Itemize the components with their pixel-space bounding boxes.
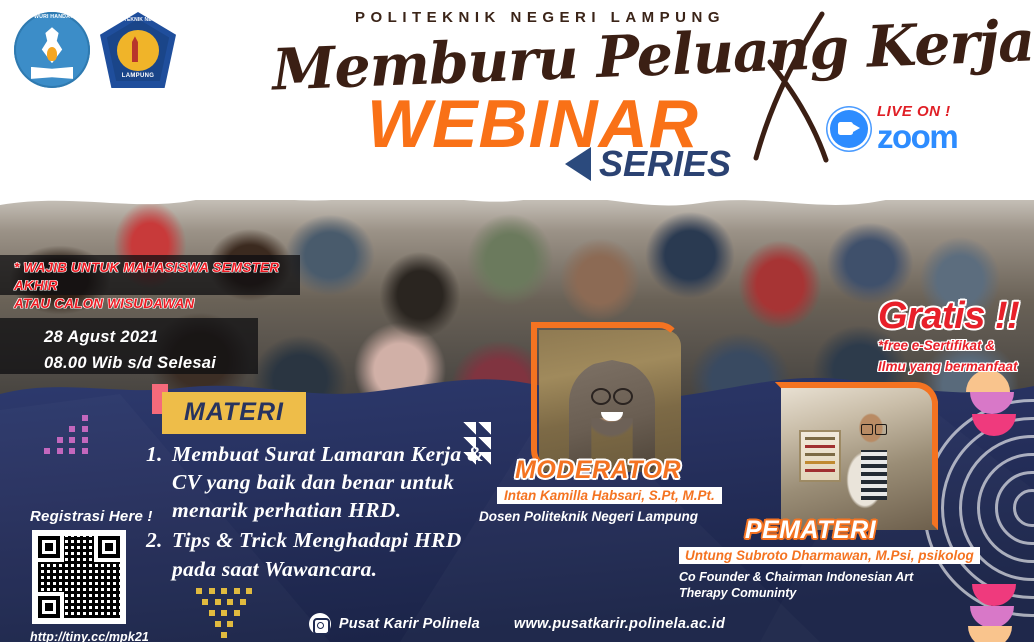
registration-label: Registrasi Here !: [22, 508, 174, 525]
notice-line-2: ATAU CALON WISUDAWAN: [14, 295, 300, 313]
speaker-affiliation: Co Founder & Chairman Indonesian Art The…: [679, 569, 929, 602]
logo1-rim-text: TUT WURI HANDAYANI: [14, 14, 90, 20]
series-label: SERIES: [599, 143, 731, 185]
speaker-name: Untung Subroto Dharmawan, M.Psi, psikolo…: [679, 547, 980, 564]
zoom-live-block: LIVE ON ! zoom: [830, 104, 957, 153]
speaker-card: PEMATERI Untung Subroto Dharmawan, M.Psi…: [775, 382, 938, 602]
materi-item-2-text: Tips & Trick Menghadapi HRD pada saat Wa…: [172, 526, 496, 582]
footer-bar: Pusat Karir Polinela www.pusatkarir.poli…: [0, 606, 1034, 642]
zoom-brand-label: zoom: [877, 120, 957, 153]
moderator-name: Intan Kamilla Habsari, S.Pt, M.Pt.: [497, 487, 722, 504]
logo-group: TUT WURI HANDAYANI POLITEKNIK NEGERI LAM…: [14, 12, 176, 88]
halfcircle-pink-top: [972, 414, 1016, 436]
moderator-card: MODERATOR Intan Kamilla Habsari, S.Pt, M…: [531, 322, 681, 524]
instagram-icon: [309, 613, 331, 635]
webinar-poster: * WAJIB UNTUK MAHASISWA SEMSTER AKHIR AT…: [0, 0, 1034, 642]
materi-item-2: 2. Tips & Trick Menghadapi HRD pada saat…: [146, 526, 496, 582]
polinela-logo: POLITEKNIK NEGERI LAMPUNG: [100, 12, 176, 88]
event-time: 08.00 Wib s/d Selesai: [44, 351, 258, 377]
speaker-role: PEMATERI: [683, 516, 938, 545]
materi-item-1: 1. Membuat Surat Lamaran Kerja & CV yang…: [146, 440, 496, 524]
gratis-sub-line-1: *free e-Sertifikat &: [878, 337, 1034, 355]
website-url[interactable]: www.pusatkarir.polinela.ac.id: [514, 616, 725, 632]
triangle-left-icon: [565, 147, 591, 181]
gratis-headline: Gratis !!: [878, 298, 1034, 334]
gratis-badge: Gratis !! *free e-Sertifikat & Ilmu yang…: [878, 298, 1034, 377]
video-camera-icon: [830, 110, 868, 148]
materi-tag: MATERI: [162, 392, 306, 434]
tut-wuri-handayani-logo: TUT WURI HANDAYANI: [14, 12, 90, 88]
moderator-photo-frame: [531, 322, 681, 472]
materi-list: 1. Membuat Surat Lamaran Kerja & CV yang…: [146, 440, 496, 585]
speaker-affiliation-line-2: Therapy Comuninty: [679, 585, 929, 601]
instagram-block[interactable]: Pusat Karir Polinela: [309, 613, 480, 635]
notice-banner: * WAJIB UNTUK MAHASISWA SEMSTER AKHIR AT…: [0, 255, 300, 295]
moderator-affiliation: Dosen Politeknik Negeri Lampung: [479, 509, 681, 524]
logo2-top-text: POLITEKNIK NEGERI: [100, 17, 176, 23]
speaker-photo-frame: [775, 382, 938, 530]
materi-label: MATERI: [184, 398, 284, 427]
notice-line-1: * WAJIB UNTUK MAHASISWA SEMSTER AKHIR: [14, 259, 300, 295]
triangle-grid-decoration: [463, 422, 491, 465]
materi-item-1-text: Membuat Surat Lamaran Kerja & CV yang ba…: [172, 440, 496, 524]
instagram-handle: Pusat Karir Polinela: [339, 616, 480, 632]
pink-dots-decoration: [44, 415, 88, 459]
moderator-role: MODERATOR: [515, 456, 681, 485]
event-date: 28 Agust 2021: [44, 325, 258, 351]
speaker-affiliation-line-1: Co Founder & Chairman Indonesian Art: [679, 569, 929, 585]
halfcircle-pink-bottom: [972, 584, 1016, 606]
series-label-group: SERIES: [565, 143, 731, 185]
logo2-bottom-text: LAMPUNG: [100, 73, 176, 79]
schedule-banner: 28 Agust 2021 08.00 Wib s/d Selesai: [0, 318, 258, 374]
gratis-sub-line-2: Ilmu yang bermanfaat: [878, 358, 1034, 376]
live-on-label: LIVE ON !: [877, 104, 957, 119]
halfcircle-purple-top: [970, 392, 1014, 414]
